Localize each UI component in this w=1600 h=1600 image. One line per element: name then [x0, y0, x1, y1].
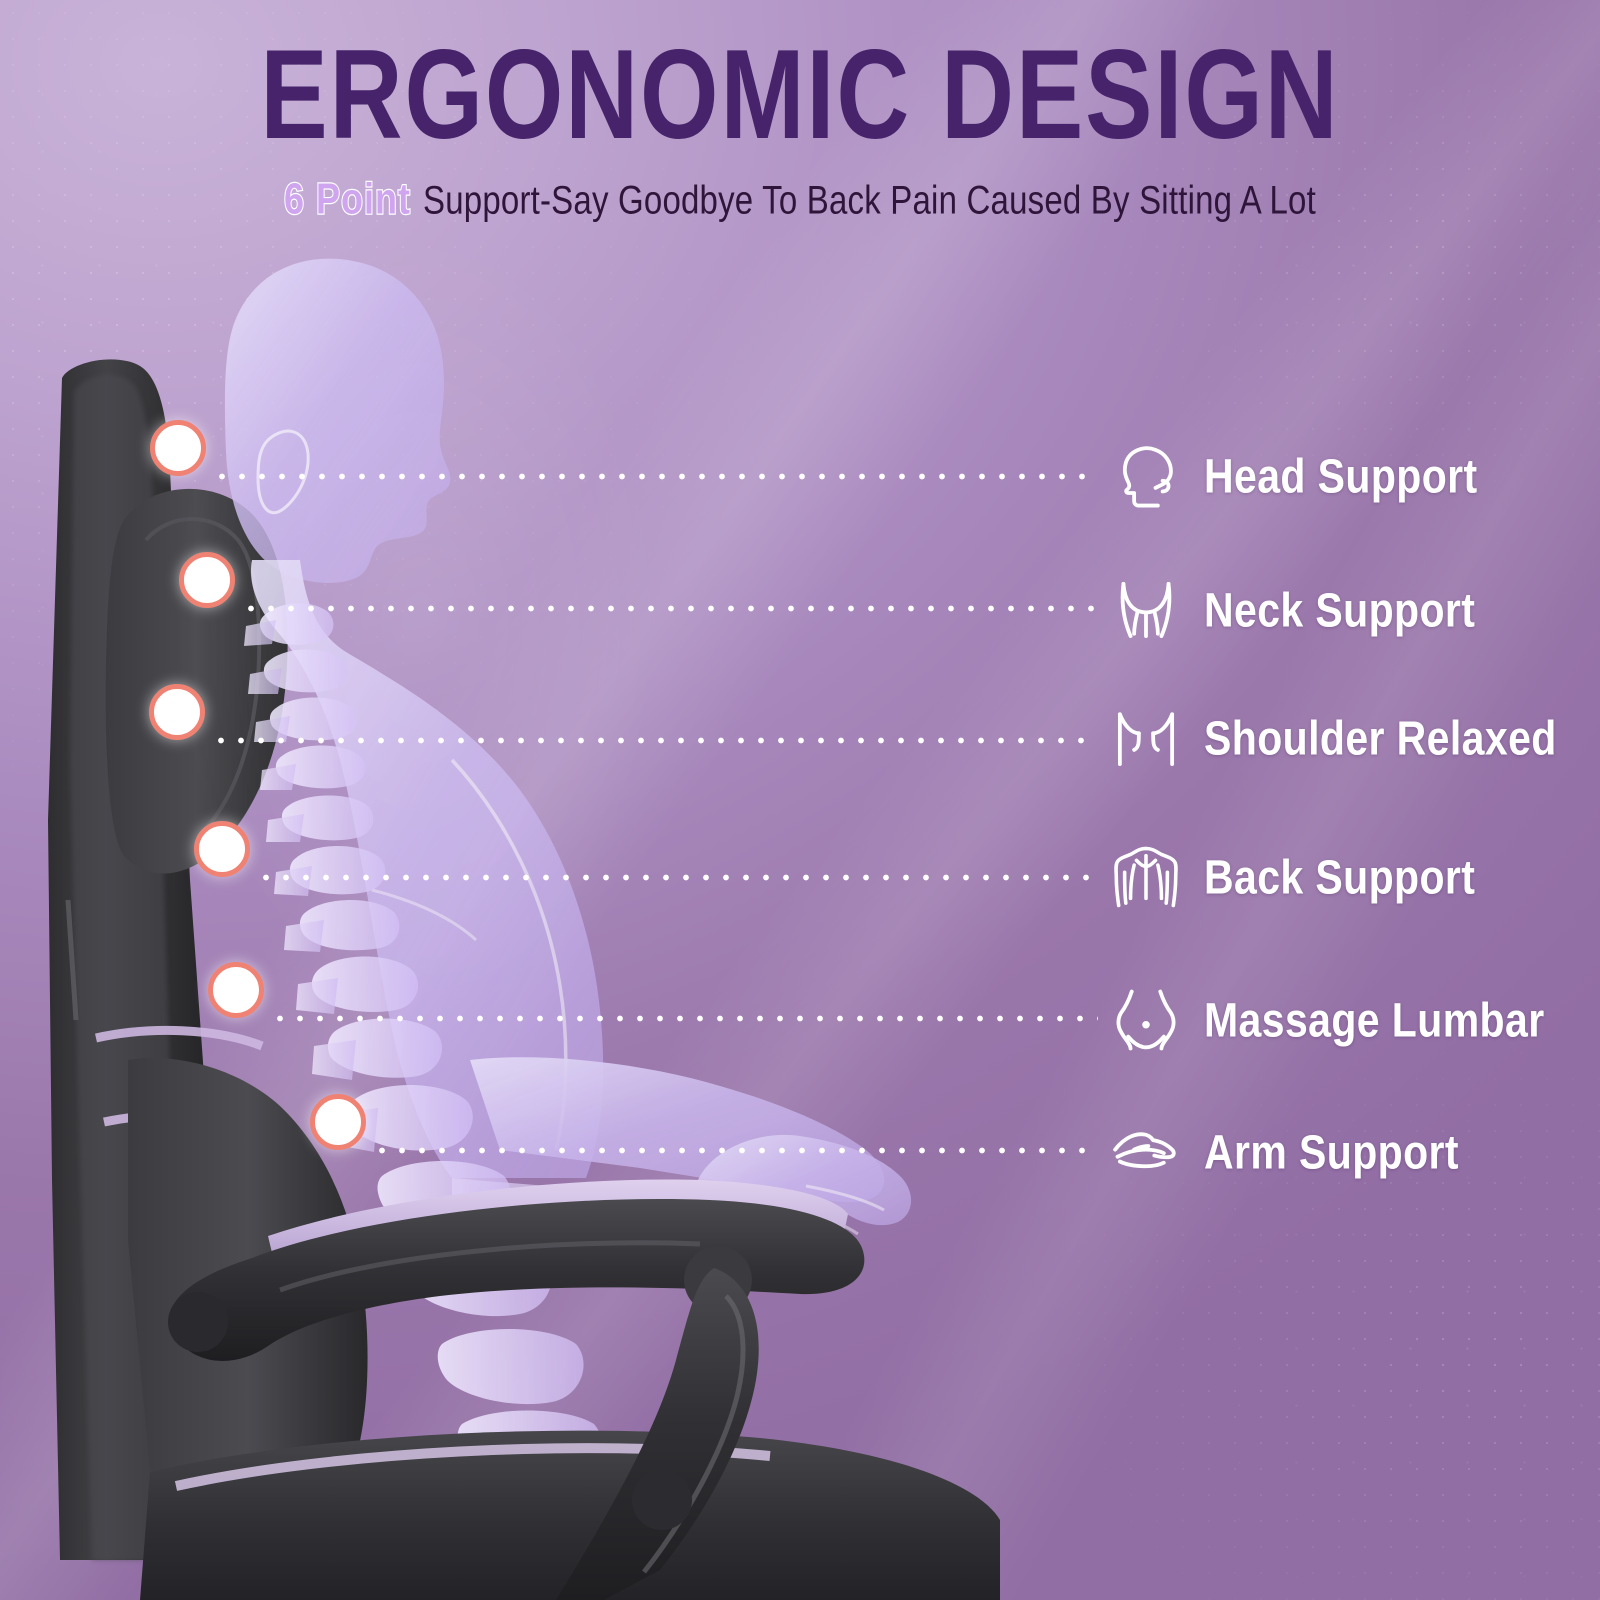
callout-pin-back-support[interactable]	[194, 821, 250, 877]
head-profile-icon	[1108, 438, 1184, 514]
infographic-page: ERGONOMIC DESIGN 6 Point Support-Say Goo…	[0, 0, 1600, 1600]
lumbar-belly-icon	[1108, 982, 1184, 1058]
back-torso-icon	[1108, 839, 1184, 915]
feature-label: Neck Support	[1204, 582, 1475, 637]
feature-callout-list: Head Support Neck Support Shoulder Relax…	[0, 0, 1600, 1600]
callout-pin-massage-lumbar[interactable]	[208, 962, 264, 1018]
callout-pin-neck-support[interactable]	[179, 552, 235, 608]
shoulders-icon	[1108, 700, 1184, 776]
callout-dotted-line	[212, 473, 1098, 480]
callout-dotted-line	[256, 874, 1098, 881]
feature-label: Shoulder Relaxed	[1204, 710, 1557, 765]
feature-label: Arm Support	[1204, 1124, 1459, 1179]
callout-pin-arm-support[interactable]	[310, 1094, 366, 1150]
feature-label: Back Support	[1204, 849, 1475, 904]
feature-label: Head Support	[1204, 448, 1478, 503]
callout-dotted-line	[270, 1015, 1098, 1022]
callout-pin-shoulder-relaxed[interactable]	[149, 684, 205, 740]
callout-dotted-line	[372, 1147, 1098, 1154]
callout-pin-head-support[interactable]	[150, 420, 206, 476]
feature-label: Massage Lumbar	[1204, 992, 1545, 1047]
callout-dotted-line	[241, 605, 1098, 612]
hand-arm-icon	[1108, 1114, 1184, 1190]
callout-dotted-line	[211, 737, 1098, 744]
neck-icon	[1108, 572, 1184, 648]
